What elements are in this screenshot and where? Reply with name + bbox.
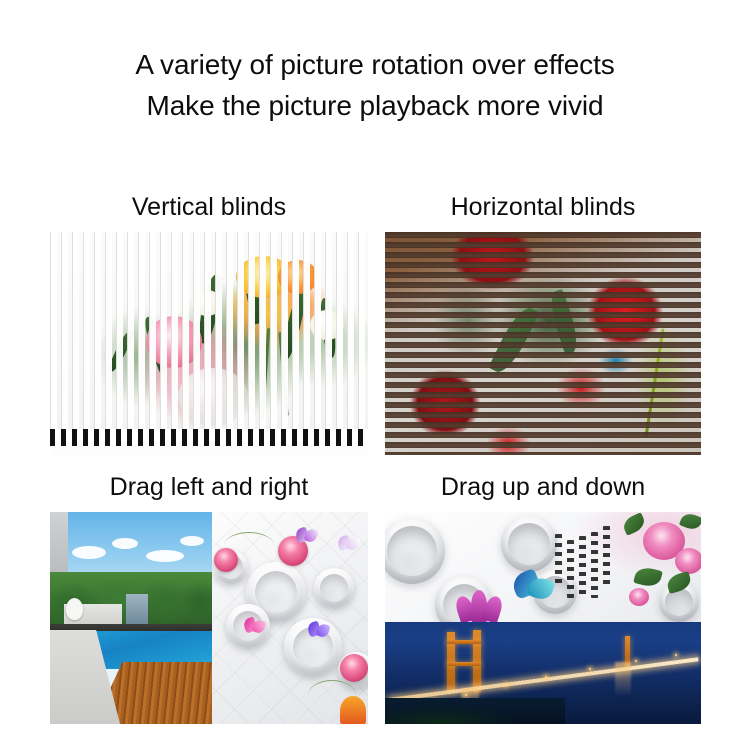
peony-flower <box>675 548 701 574</box>
butterfly-icon <box>338 536 360 552</box>
vertical-blind-slat-edges <box>50 232 368 455</box>
effect-label-vertical-blinds: Vertical blinds <box>50 190 368 224</box>
effect-card-drag-up-down[interactable]: Drag up and down <box>385 470 701 725</box>
horizontal-blind-slats <box>385 232 701 455</box>
split-left-right <box>50 512 368 724</box>
vine-line <box>308 680 356 711</box>
bridge-reflection <box>615 662 631 696</box>
water-feature <box>126 594 148 626</box>
ring-shape <box>314 568 354 608</box>
vertical-blind-base-shade <box>50 446 368 455</box>
river-bank <box>385 698 565 724</box>
butterfly-icon <box>296 528 318 544</box>
vine-line <box>224 532 274 559</box>
bridge-light <box>675 654 677 656</box>
butterfly-icon <box>244 618 266 634</box>
butterfly-icon <box>308 622 330 638</box>
bridge-light <box>635 660 637 662</box>
circles-mural-scene <box>212 512 368 724</box>
sphere-shape <box>501 516 557 572</box>
cloud-shape <box>72 546 106 559</box>
bridge-crossbeam <box>447 662 481 666</box>
sphere-inner <box>508 523 550 565</box>
bridge-light <box>465 694 467 696</box>
rose-flower <box>340 654 368 682</box>
calligraphy-column <box>579 536 586 596</box>
effect-card-horizontal-blinds[interactable]: Horizontal blinds <box>385 190 701 455</box>
peony-leaf <box>621 512 648 536</box>
peony-flower <box>629 588 649 606</box>
night-bridge-scene <box>385 622 701 724</box>
butterfly-icon <box>513 572 555 602</box>
effect-label-drag-up-down: Drag up and down <box>385 470 701 504</box>
ring-hole <box>320 574 348 602</box>
bridge-light <box>589 668 591 670</box>
sphere-inner <box>387 526 437 576</box>
peony-leaf <box>679 512 701 532</box>
headline-line-1: A variety of picture rotation over effec… <box>0 44 750 85</box>
effect-label-horizontal-blinds: Horizontal blinds <box>385 190 701 224</box>
calligraphy-column <box>555 534 562 588</box>
cloud-shape <box>180 536 204 546</box>
bridge-crossbeam <box>447 640 481 644</box>
calligraphy-column <box>603 526 610 588</box>
bridge-light <box>545 676 547 678</box>
peony-leaf <box>633 565 663 589</box>
effect-preview-drag-left-right[interactable] <box>50 512 368 724</box>
hanging-chair <box>66 598 83 620</box>
ring-hole <box>255 571 297 613</box>
sphere-shape <box>385 518 445 584</box>
effect-preview-vertical-blinds[interactable] <box>50 232 368 455</box>
calligraphy-column <box>591 532 598 598</box>
cloud-shape <box>112 538 138 549</box>
headline-line-2: Make the picture playback more vivid <box>0 85 750 126</box>
effect-label-drag-left-right: Drag left and right <box>50 470 368 504</box>
bridge-deck <box>389 657 699 702</box>
pool-villa-scene <box>50 512 212 724</box>
cloud-shape <box>146 550 184 562</box>
calligraphy-column <box>567 540 574 598</box>
effect-preview-horizontal-blinds[interactable] <box>385 232 701 455</box>
effect-card-drag-left-right[interactable]: Drag left and right <box>50 470 368 725</box>
effect-card-vertical-blinds[interactable]: Vertical blinds <box>50 190 368 455</box>
vertical-blind-base-tips <box>50 429 368 446</box>
calligraphy-mural-scene <box>385 512 701 622</box>
bridge-light <box>505 684 507 686</box>
effect-preview-drag-up-down[interactable] <box>385 512 701 724</box>
headline-block: A variety of picture rotation over effec… <box>0 44 750 126</box>
split-up-down <box>385 512 701 724</box>
